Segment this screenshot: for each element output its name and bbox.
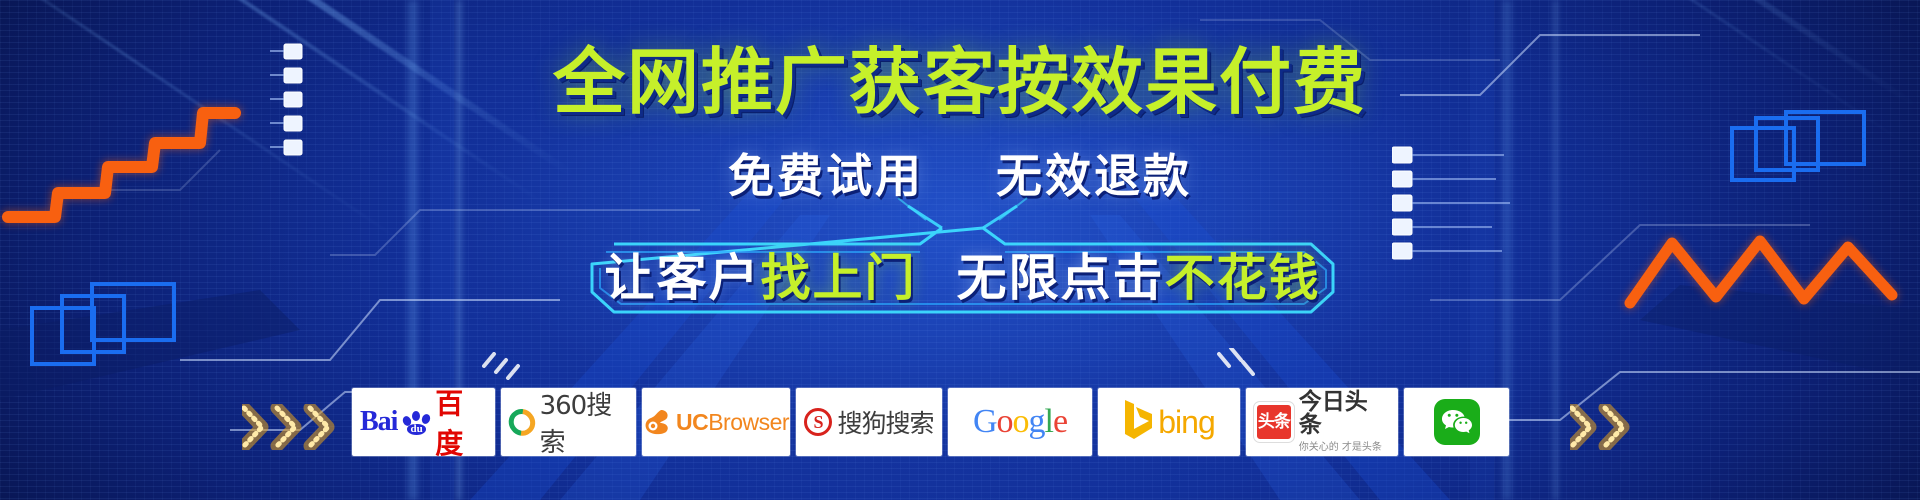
toutiao-text-block: 今日头条 你关心的 才是头条 xyxy=(1299,391,1390,453)
sogou-s-icon: S xyxy=(804,408,832,436)
tagline-part-3: 无限点击 xyxy=(957,253,1165,303)
promo-banner: 全网推广获客按效果付费 免费试用 无效退款 让客户 找上门 无限点击 不花钱 xyxy=(0,0,1920,500)
uc-squirrel-icon xyxy=(643,409,671,435)
chevron-arrows-left xyxy=(242,404,362,450)
logo-bing[interactable]: bing xyxy=(1098,388,1240,456)
bing-logo-icon xyxy=(1123,398,1153,447)
360-label: 360搜索 xyxy=(540,385,628,459)
tagline-row: 让客户 找上门 无限点击 不花钱 xyxy=(590,242,1335,314)
360-ring-icon xyxy=(503,403,540,440)
logo-uc-browser[interactable]: UCBrowser xyxy=(642,388,790,456)
baidu-paw-icon: du xyxy=(402,409,430,435)
toutiao-badge-icon: 头条 xyxy=(1254,402,1294,442)
partner-logo-strip: Bai du 百度 360搜索 xyxy=(352,388,1509,456)
subheadline-left: 免费试用 xyxy=(728,149,924,203)
tagline-part-4: 不花钱 xyxy=(1165,253,1321,303)
logo-toutiao[interactable]: 头条 今日头条 你关心的 才是头条 xyxy=(1246,388,1398,456)
logo-360[interactable]: 360搜索 xyxy=(501,388,636,456)
subheadline-right: 无效退款 xyxy=(996,149,1192,203)
baidu-cn-text: 百度 xyxy=(435,382,487,462)
sogou-label: 搜狗搜索 xyxy=(837,404,933,440)
baidu-latin-text: Bai xyxy=(360,406,397,438)
google-wordmark-icon: Google xyxy=(973,403,1067,441)
logo-sogou[interactable]: S 搜狗搜索 xyxy=(796,388,942,456)
uc-label: UCBrowser xyxy=(676,409,789,436)
wechat-icon xyxy=(1434,399,1480,445)
subheadline-row: 免费试用 无效退款 xyxy=(0,140,1920,206)
headline-text: 全网推广获客按效果付费 xyxy=(0,46,1920,118)
toutiao-label: 今日头条 xyxy=(1299,391,1390,437)
baidu-du-text: du xyxy=(410,423,422,435)
logo-google[interactable]: Google xyxy=(948,388,1092,456)
bing-label: bing xyxy=(1158,404,1215,441)
logo-baidu[interactable]: Bai du 百度 xyxy=(352,388,495,456)
tagline-part-1: 让客户 xyxy=(605,253,761,303)
chevron-arrows-right xyxy=(1570,404,1660,450)
tagline-part-2: 找上门 xyxy=(761,253,917,303)
banner-content: 全网推广获客按效果付费 免费试用 无效退款 让客户 找上门 无限点击 不花钱 xyxy=(0,0,1920,500)
logo-wechat[interactable] xyxy=(1404,388,1509,456)
toutiao-tagline: 你关心的 才是头条 xyxy=(1299,438,1382,453)
